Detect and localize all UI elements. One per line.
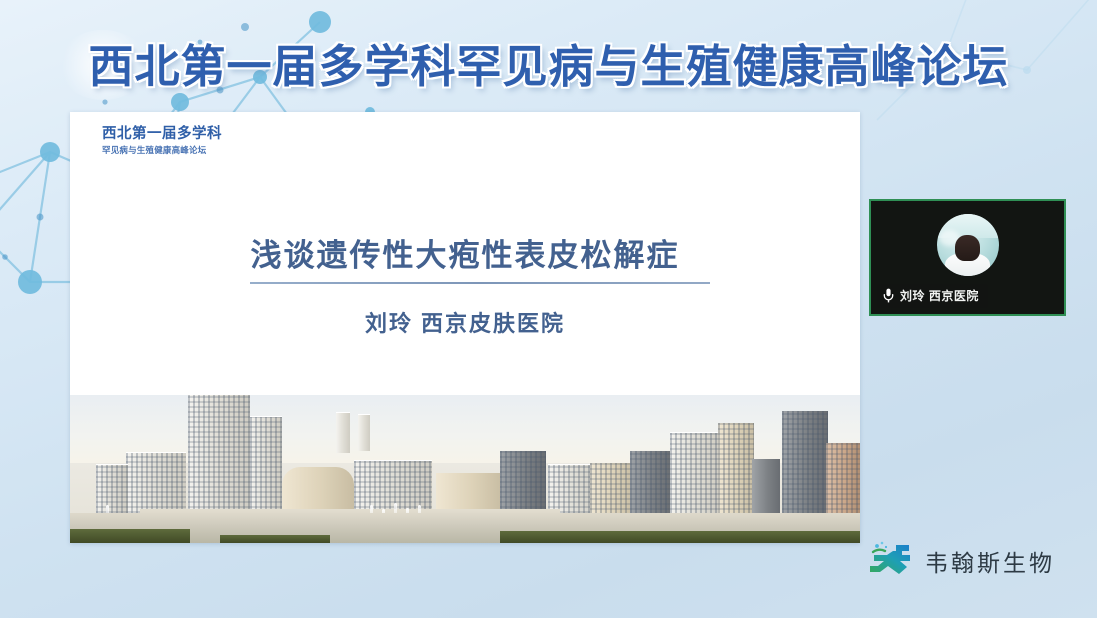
photo-building: [336, 412, 350, 453]
photo-building: [358, 414, 370, 451]
slide-event-logo-sub: 罕见病与生殖健康高峰论坛: [102, 145, 222, 156]
photo-building: [96, 464, 128, 513]
photo-building: [282, 467, 354, 513]
banner-title: 西北第一届多学科罕见病与生殖健康高峰论坛: [0, 38, 1097, 96]
photo-building: [500, 451, 546, 513]
photo-building: [188, 395, 250, 513]
slide-event-logo: 西北第一届多学科 罕见病与生殖健康高峰论坛: [102, 125, 222, 156]
participant-name: 刘玲 西京医院: [900, 287, 979, 304]
slide-title: 浅谈遗传性大疱性表皮松解症: [70, 230, 860, 275]
photo-building: [782, 411, 828, 515]
photo-greenery: [220, 535, 330, 543]
microphone-icon: [883, 288, 894, 303]
photo-building: [126, 452, 186, 513]
photo-building: [590, 463, 634, 515]
participant-name-bar: 刘玲 西京医院: [877, 284, 988, 308]
participant-video-tile[interactable]: 刘玲 西京医院: [869, 199, 1066, 316]
campus-photo: [70, 395, 860, 543]
photo-building: [630, 451, 672, 515]
sponsor-logo: 韦翰斯生物: [866, 540, 1055, 582]
photo-building: [436, 473, 502, 513]
photo-building: [826, 443, 860, 515]
slide-divider: [250, 282, 710, 284]
photo-building: [670, 432, 720, 515]
avatar: [937, 214, 999, 276]
slide-presenter: 刘玲 西京皮肤医院: [70, 306, 860, 338]
slide-event-logo-main: 西北第一届多学科: [102, 125, 222, 143]
photo-building: [752, 459, 780, 515]
weihans-logo-icon: [866, 540, 914, 582]
shared-slide: 西北第一届多学科 罕见病与生殖健康高峰论坛 浅谈遗传性大疱性表皮松解症 刘玲 西…: [70, 112, 860, 543]
photo-building: [718, 423, 754, 515]
photo-greenery: [500, 531, 860, 543]
photo-building: [250, 416, 282, 513]
sponsor-name: 韦翰斯生物: [925, 544, 1055, 578]
webinar-screen: 西北第一届多学科罕见病与生殖健康高峰论坛 西北第一届多学科 罕见病与生殖健康高峰…: [0, 0, 1097, 618]
photo-greenery: [70, 529, 190, 543]
